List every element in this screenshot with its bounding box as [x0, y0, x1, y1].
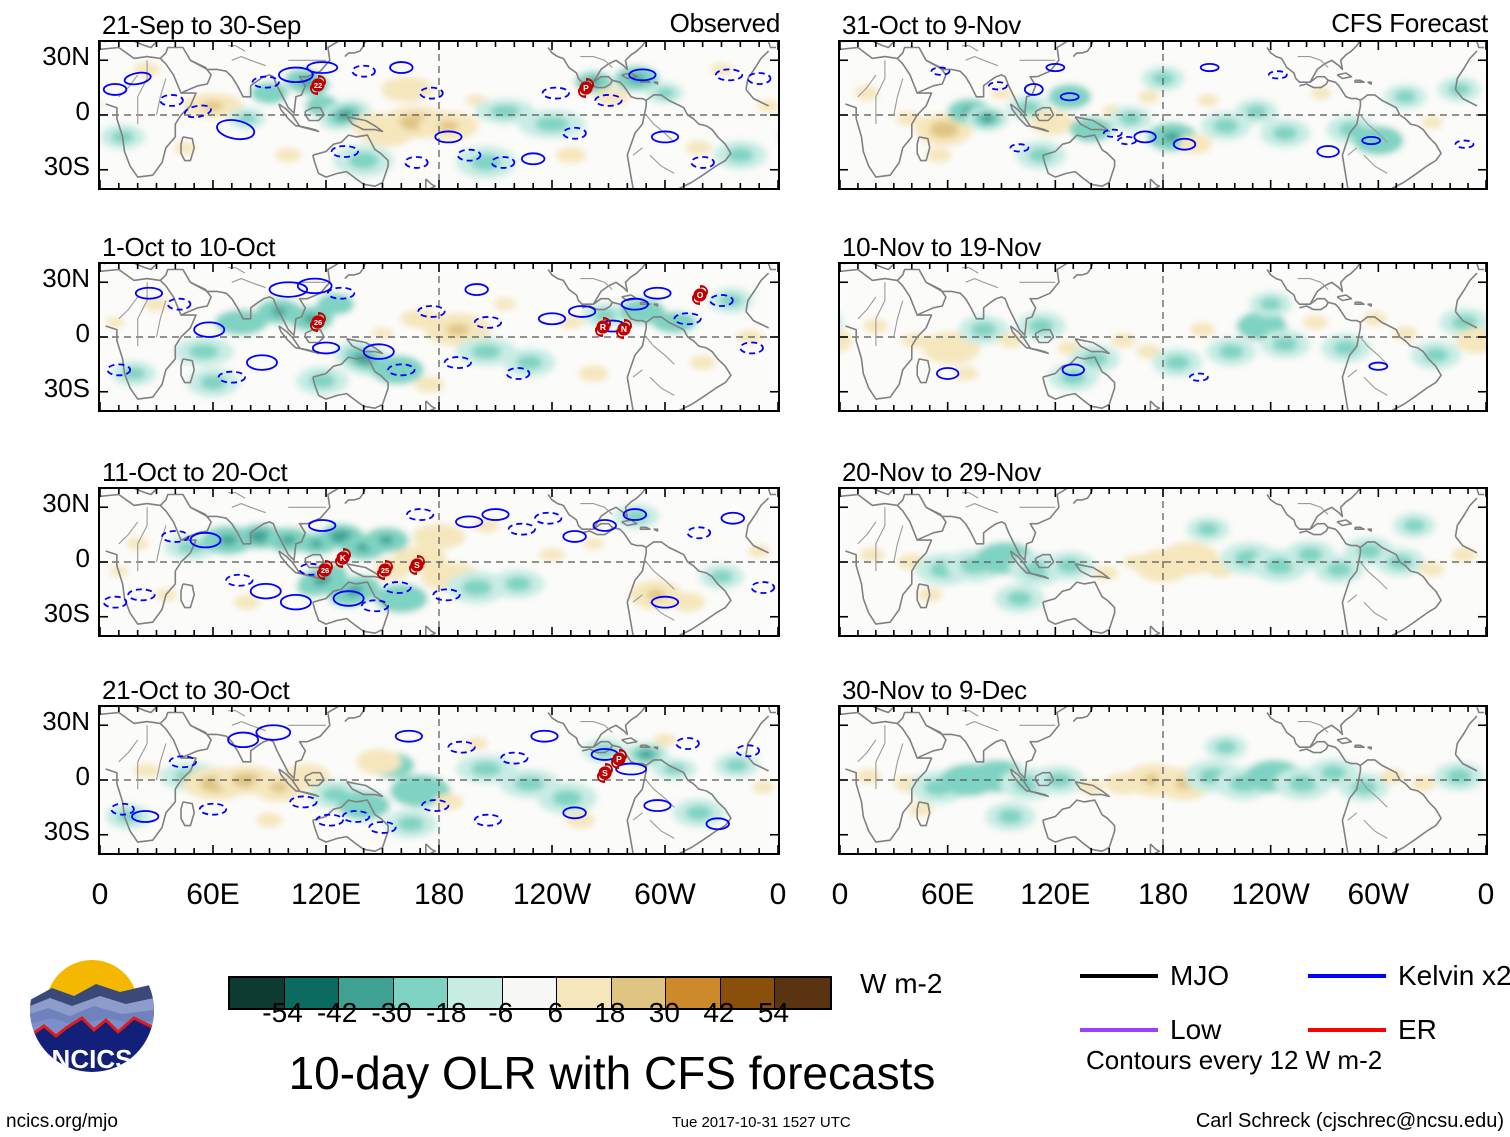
y-tick-label: 30N [8, 41, 90, 72]
x-tick-label: 120W [1231, 878, 1309, 912]
map-panel-fcst-3 [838, 487, 1488, 637]
colorbar-units-label: W m-2 [860, 968, 942, 1000]
storm-marker: K [332, 546, 354, 570]
colorbar-tick-label: 54 [758, 997, 789, 1029]
legend-item-mjo: MJO [1080, 960, 1229, 992]
svg-text:25: 25 [381, 566, 389, 575]
storm-marker: 25 [374, 558, 396, 582]
ncics-logo: NCICS [22, 940, 162, 1080]
colorbar-ticks: -54-42-30-18-6618304254 [228, 997, 828, 1033]
storm-marker: 26 [307, 310, 329, 334]
y-tick-label: 30N [8, 706, 90, 737]
svg-text:P: P [616, 754, 622, 764]
x-tick-label: 120E [1020, 878, 1090, 912]
storm-marker: S [406, 553, 428, 577]
colorbar-tick-label: 18 [594, 997, 625, 1029]
svg-text:22: 22 [314, 81, 322, 90]
panel-title-obs-2: 1-Oct to 10-Oct [102, 232, 275, 263]
svg-text:P: P [583, 83, 589, 93]
panel-title-fcst-2: 10-Nov to 19-Nov [842, 232, 1041, 263]
storm-marker: 22 [307, 73, 329, 97]
svg-text:K: K [340, 553, 347, 563]
svg-text:NCICS: NCICS [52, 1044, 133, 1074]
legend-item-er: ER [1308, 1014, 1437, 1046]
colorbar-tick-label: 42 [703, 997, 734, 1029]
column-header-observed: Observed [98, 8, 780, 39]
x-tick-label: 0 [832, 878, 849, 912]
panel-title-obs-4: 21-Oct to 30-Oct [102, 675, 289, 706]
y-tick-label: 30N [8, 263, 90, 294]
legend-label-mjo: MJO [1170, 960, 1229, 992]
y-tick-label: 30S [8, 598, 90, 629]
colorbar-tick-label: 30 [649, 997, 680, 1029]
colorbar-tick-label: 6 [547, 997, 563, 1029]
legend-line-low [1080, 1028, 1158, 1032]
map-panel-obs-1: 22P [98, 40, 780, 190]
storm-marker: O [689, 283, 711, 307]
storm-marker: S [594, 761, 616, 785]
svg-text:R: R [600, 322, 606, 332]
x-tick-label: 0 [1478, 878, 1495, 912]
legend-line-kelvin [1308, 974, 1386, 978]
colorbar-tick-label: -30 [371, 997, 411, 1029]
y-tick-label: 30S [8, 151, 90, 182]
legend-item-kelvin: Kelvin x2 [1308, 960, 1510, 992]
map-panel-fcst-4 [838, 705, 1488, 855]
svg-text:S: S [414, 560, 420, 570]
map-panel-obs-4: PS [98, 705, 780, 855]
map-panel-fcst-1 [838, 40, 1488, 190]
x-axis-right: 060E120E180120W60W0 [838, 878, 1488, 918]
map-panel-obs-3: 26K25S [98, 487, 780, 637]
x-tick-label: 60E [186, 878, 239, 912]
x-tick-label: 0 [770, 878, 787, 912]
x-tick-label: 180 [414, 878, 464, 912]
footer-site-link[interactable]: ncics.org/mjo [6, 1111, 118, 1133]
legend-line-er [1308, 1028, 1386, 1032]
column-header-forecast: CFS Forecast [838, 8, 1488, 39]
legend-label-er: ER [1398, 1014, 1437, 1046]
x-tick-label: 0 [92, 878, 109, 912]
legend-label-low: Low [1170, 1014, 1221, 1046]
colorbar-tick-label: -54 [262, 997, 302, 1029]
storm-marker: N [613, 317, 635, 341]
x-tick-label: 120W [513, 878, 591, 912]
y-tick-label: 0 [8, 318, 90, 349]
footer-author: Carl Schreck (cjschrec@ncsu.edu) [1196, 1110, 1504, 1133]
svg-text:26: 26 [314, 318, 322, 327]
x-tick-label: 180 [1138, 878, 1188, 912]
y-tick-label: 0 [8, 96, 90, 127]
x-tick-label: 60W [634, 878, 696, 912]
x-tick-label: 60E [921, 878, 974, 912]
panel-title-obs-3: 11-Oct to 20-Oct [102, 457, 287, 488]
svg-text:O: O [697, 290, 704, 300]
y-tick-label: 30S [8, 816, 90, 847]
svg-text:N: N [621, 324, 627, 334]
map-panel-obs-2: 26RNO [98, 262, 780, 412]
x-tick-label: 120E [291, 878, 361, 912]
storm-marker: P [575, 76, 597, 100]
panel-title-fcst-3: 20-Nov to 29-Nov [842, 457, 1041, 488]
svg-text:S: S [602, 768, 608, 778]
y-tick-label: 30S [8, 373, 90, 404]
storm-marker: R [592, 315, 614, 339]
y-tick-label: 30N [8, 488, 90, 519]
colorbar-tick-label: -18 [426, 997, 466, 1029]
legend-line-mjo [1080, 974, 1158, 978]
panel-title-fcst-4: 30-Nov to 9-Dec [842, 675, 1027, 706]
page-title: 10-day OLR with CFS forecasts [232, 1046, 992, 1100]
x-tick-label: 60W [1347, 878, 1409, 912]
colorbar-tick-label: -6 [488, 997, 513, 1029]
legend-label-kelvin: Kelvin x2 [1398, 960, 1510, 992]
colorbar-tick-label: -42 [317, 997, 357, 1029]
y-tick-label: 0 [8, 761, 90, 792]
x-axis-left: 060E120E180120W60W0 [98, 878, 780, 918]
footer-timestamp: Tue 2017-10-31 1527 UTC [672, 1114, 851, 1131]
y-tick-label: 0 [8, 543, 90, 574]
contour-interval-note: Contours every 12 W m-2 [1086, 1045, 1382, 1076]
map-panel-fcst-2 [838, 262, 1488, 412]
legend-item-low: Low [1080, 1014, 1221, 1046]
svg-text:26: 26 [321, 566, 329, 575]
